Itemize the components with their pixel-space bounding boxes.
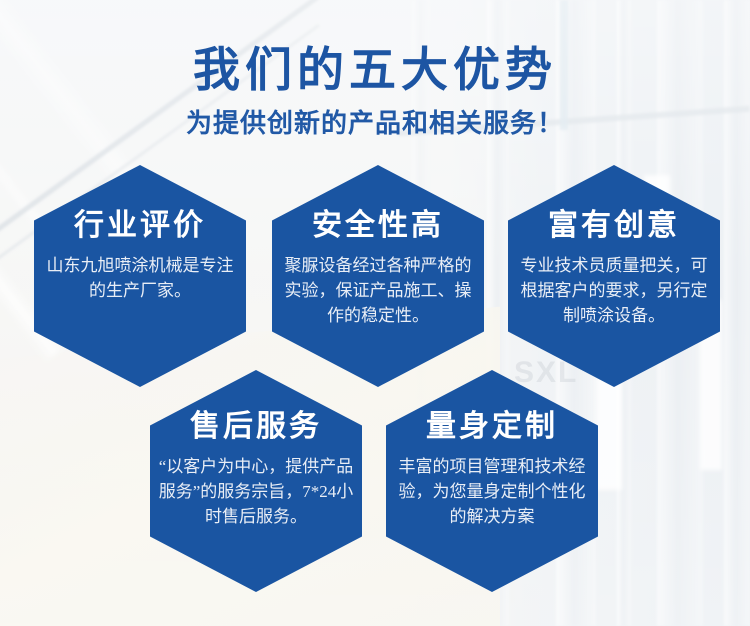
advantage-body: 丰富的项目管理和技术经验，为您量身定制个性化的解决方案 xyxy=(394,454,590,529)
advantage-body: 专业技术员质量把关，可根据客户的要求，另行定制喷涂设备。 xyxy=(516,253,712,328)
advantage-title: 量身定制 xyxy=(426,410,558,444)
advantage-title: 行业评价 xyxy=(74,209,206,243)
advantage-title: 富有创意 xyxy=(548,209,680,243)
advantage-body: 山东九旭喷涂机械是专注的生产厂家。 xyxy=(42,253,238,303)
advantages-banner: SXL 我们的五大优势 为提供创新的产品和相关服务！ 行业评价 山东九旭喷涂机械… xyxy=(0,0,750,626)
page-subtitle: 为提供创新的产品和相关服务！ xyxy=(0,108,750,140)
advantage-title: 安全性高 xyxy=(312,209,444,243)
advantage-title: 售后服务 xyxy=(190,410,322,444)
advantage-body: “以客户为中心，提供产品服务”的服务宗旨，7*24小时售后服务。 xyxy=(158,454,354,529)
advantage-body: 聚脲设备经过各种严格的实验，保证产品施工、操作的稳定性。 xyxy=(280,253,476,328)
heading-block: 我们的五大优势 为提供创新的产品和相关服务！ xyxy=(0,42,750,140)
page-title: 我们的五大优势 xyxy=(0,42,750,100)
